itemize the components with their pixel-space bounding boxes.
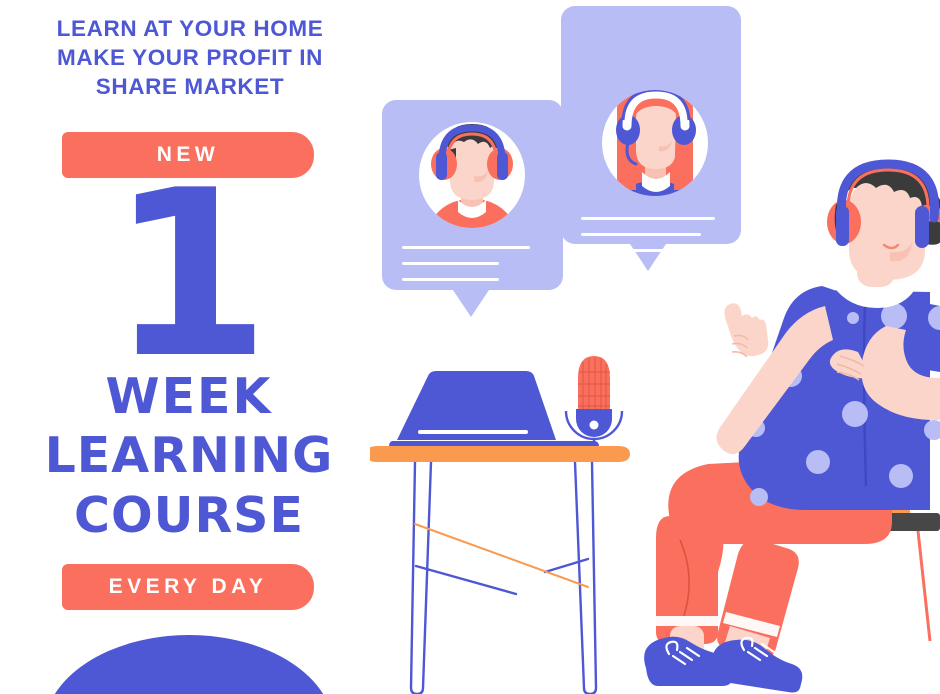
course-title-line-2: LEARNING bbox=[0, 426, 378, 486]
poster-canvas: LEARN AT YOUR HOME MAKE YOUR PROFIT IN S… bbox=[0, 0, 940, 694]
chat-bubble-left-text-line-2 bbox=[402, 262, 499, 265]
headline-line-2: MAKE YOUR PROFIT IN bbox=[12, 43, 368, 72]
desk-leg-front-left bbox=[411, 462, 431, 694]
chat-bubble-left-text-line-1 bbox=[402, 246, 530, 249]
presenter-headphone-cup-left bbox=[836, 206, 849, 246]
left-text-column: LEARN AT YOUR HOME MAKE YOUR PROFIT IN S… bbox=[0, 0, 378, 694]
presenter-headphone-cup-right bbox=[915, 206, 929, 248]
chat-bubble-right-text-line-1 bbox=[581, 217, 715, 220]
course-duration-number: 1 bbox=[0, 176, 378, 376]
laptop-screen bbox=[397, 371, 556, 440]
orange-desk-top bbox=[370, 446, 630, 462]
blue-laptop bbox=[389, 371, 599, 453]
course-title-line-1: WEEK bbox=[0, 368, 378, 426]
chat-bubble-right-text-line-3 bbox=[581, 249, 701, 252]
chat-bubble-left bbox=[382, 100, 563, 317]
course-title-line-3: COURSE bbox=[0, 486, 378, 546]
illustration-artwork bbox=[370, 0, 940, 694]
chat-bubble-right-text-line-2 bbox=[581, 233, 701, 236]
desk-leg-front-right bbox=[575, 462, 596, 694]
illustration-svg bbox=[370, 0, 940, 694]
desk-brace-orange-line bbox=[415, 524, 588, 587]
headline-line-1: LEARN AT YOUR HOME bbox=[12, 14, 368, 43]
bottom-dome-decoration bbox=[44, 635, 334, 694]
presenter-cuff-left bbox=[656, 616, 718, 626]
desk-brace-blue-b bbox=[545, 559, 588, 572]
desk-brace-orange bbox=[415, 524, 588, 587]
desk-brace-blue-a bbox=[416, 566, 516, 594]
headline-line-3: SHARE MARKET bbox=[12, 72, 368, 101]
every-day-badge-label: EVERY DAY bbox=[109, 575, 268, 599]
desk-legs bbox=[411, 462, 596, 694]
mic-body-dot bbox=[590, 421, 599, 430]
every-day-badge: EVERY DAY bbox=[62, 564, 314, 610]
course-title: WEEK LEARNING COURSE bbox=[0, 368, 378, 546]
page-title: LEARN AT YOUR HOME MAKE YOUR PROFIT IN S… bbox=[12, 14, 368, 101]
chat-bubble-left-text-line-3 bbox=[402, 278, 499, 281]
chat-bubble-right bbox=[561, 6, 741, 271]
chair-leg-right bbox=[918, 531, 930, 641]
laptop-hinge-highlight bbox=[418, 430, 528, 434]
avatar-left-headphone-cup-left bbox=[436, 152, 447, 180]
avatar-left-headphone-cup-right bbox=[497, 152, 508, 180]
